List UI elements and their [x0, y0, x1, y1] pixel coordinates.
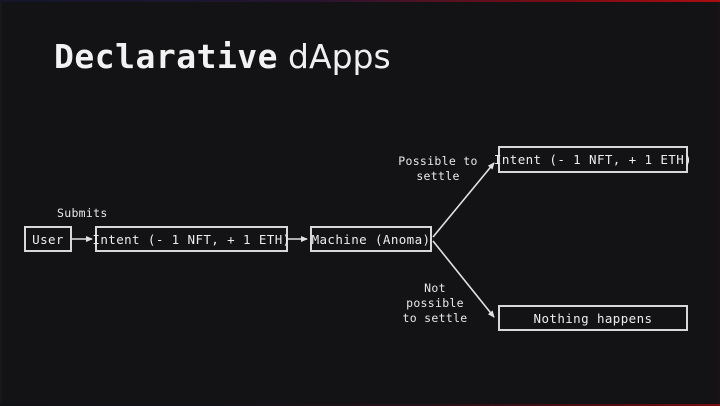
slide-canvas: DeclarativedApps User Intent (- 1 NFT, +…	[0, 0, 720, 406]
node-intent-input[interactable]: Intent (- 1 NFT, + 1 ETH)	[95, 226, 288, 252]
page-title-light: dApps	[288, 37, 391, 76]
node-machine-anoma-label: Machine (Anoma)	[312, 232, 431, 247]
node-intent-settled[interactable]: Intent (- 1 NFT, + 1 ETH)	[498, 146, 688, 173]
node-intent-settled-label: Intent (- 1 NFT, + 1 ETH)	[494, 152, 692, 167]
node-nothing-happens[interactable]: Nothing happens	[498, 305, 688, 331]
node-nothing-happens-label: Nothing happens	[534, 311, 653, 326]
node-machine-anoma[interactable]: Machine (Anoma)	[310, 226, 432, 252]
page-title: DeclarativedApps	[54, 40, 391, 73]
node-user-label: User	[32, 232, 64, 247]
edge-label-possible-to-settle: Possible to settle	[396, 154, 480, 184]
left-edge-line	[0, 2, 2, 404]
node-user[interactable]: User	[24, 226, 72, 252]
top-edge-gradient-line	[0, 0, 720, 2]
node-intent-input-label: Intent (- 1 NFT, + 1 ETH)	[92, 232, 290, 247]
page-title-strong: Declarative	[54, 37, 278, 76]
edge-label-not-possible-to-settle: Not possible to settle	[390, 281, 480, 326]
edge-label-submits: Submits	[57, 206, 108, 221]
